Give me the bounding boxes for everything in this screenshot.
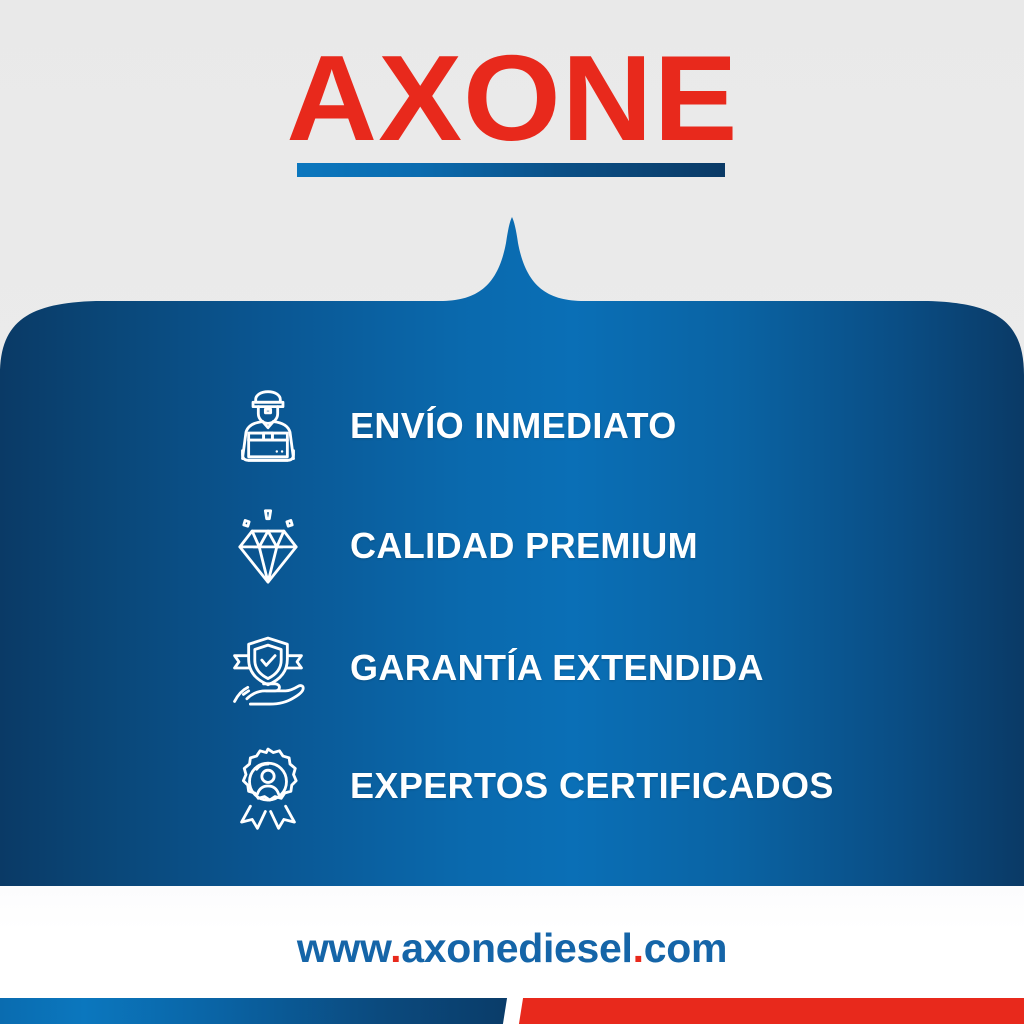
feature-list: ENVÍO INMEDIATO CALIDAD PREMIUM (0, 300, 1024, 885)
feature-row: EXPERTOS CERTIFICADOS (222, 738, 922, 834)
logo-wordmark: AXONE (286, 44, 738, 152)
delivery-person-box-icon (222, 380, 314, 472)
url-dot-1: . (390, 925, 401, 971)
shield-check-hand-icon (222, 622, 314, 714)
feature-row: ENVÍO INMEDIATO (222, 378, 922, 474)
feature-label: GARANTÍA EXTENDIDA (350, 647, 764, 689)
feature-row: CALIDAD PREMIUM (222, 498, 922, 594)
bottom-accent-bar (0, 998, 1024, 1024)
feature-label: CALIDAD PREMIUM (350, 525, 698, 567)
feature-row: GARANTÍA EXTENDIDA (222, 620, 922, 716)
url-domain: axonediesel (401, 925, 632, 971)
feature-label: EXPERTOS CERTIFICADOS (350, 765, 834, 807)
url-tld: com (644, 925, 727, 971)
feature-label: ENVÍO INMEDIATO (350, 405, 677, 447)
bottom-bar-red-segment (510, 998, 1024, 1024)
brand-logo: AXONE (0, 44, 1024, 152)
website-url[interactable]: www.axonediesel.com (0, 925, 1024, 972)
certified-badge-person-icon (222, 740, 314, 832)
url-dot-2: . (633, 925, 644, 971)
diamond-gem-icon (222, 500, 314, 592)
bottom-bar-blue-segment (0, 998, 527, 1024)
url-prefix: www (297, 925, 390, 971)
logo-underline-rule (297, 163, 725, 177)
